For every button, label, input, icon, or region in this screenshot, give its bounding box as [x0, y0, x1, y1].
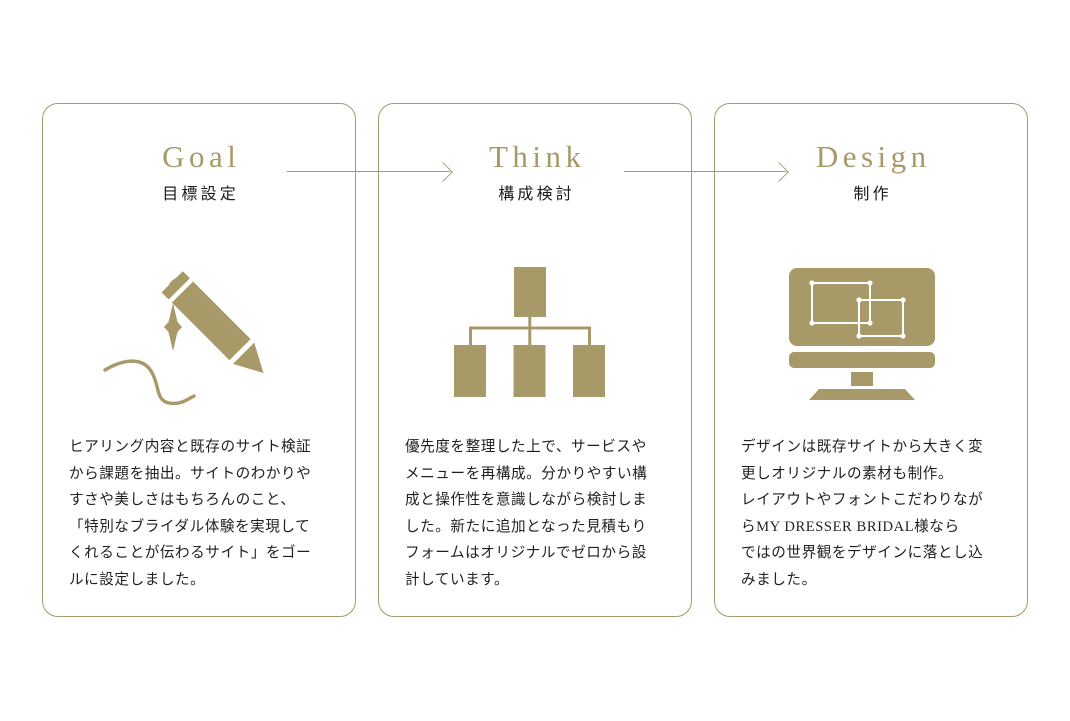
pencil-drawing-icon — [99, 254, 299, 414]
icon-container-design — [715, 254, 1027, 414]
card-subtitle-think: 構成検討 — [379, 185, 691, 205]
card-subtitle-goal: 目標設定 — [43, 185, 355, 205]
card-body-design: デザインは既存サイトから大きく変 更しオリジナルの素材も制作。 レイアウトやフォ… — [741, 434, 1005, 593]
arrow-line — [624, 171, 786, 173]
arrow-think-to-design — [624, 163, 786, 179]
icon-container-think — [379, 254, 691, 414]
card-body-think: 優先度を整理した上で、サービスや メニューを再構成。分かりやすい構 成と操作性を… — [405, 434, 669, 593]
process-card-design: Design 制作 — [714, 103, 1028, 617]
arrow-line — [287, 171, 450, 173]
desktop-monitor-design-icon — [781, 254, 961, 414]
card-body-goal: ヒアリング内容と既存のサイト検証 から課題を抽出。サイトのわかりや すさや美しさ… — [69, 434, 333, 593]
arrow-head-icon — [433, 162, 453, 182]
card-subtitle-design: 制作 — [715, 185, 1027, 205]
process-card-think: Think 構成検討 優先度を整理した上で、サービスや メニューを — [378, 103, 692, 617]
arrow-goal-to-think — [287, 163, 450, 179]
sitemap-org-chart-icon — [445, 257, 625, 412]
icon-container-goal — [43, 254, 355, 414]
process-card-goal: Goal 目標設定 — [42, 103, 356, 617]
process-flow-diagram: Goal 目標設定 — [0, 0, 1070, 721]
arrow-head-icon — [769, 162, 789, 182]
